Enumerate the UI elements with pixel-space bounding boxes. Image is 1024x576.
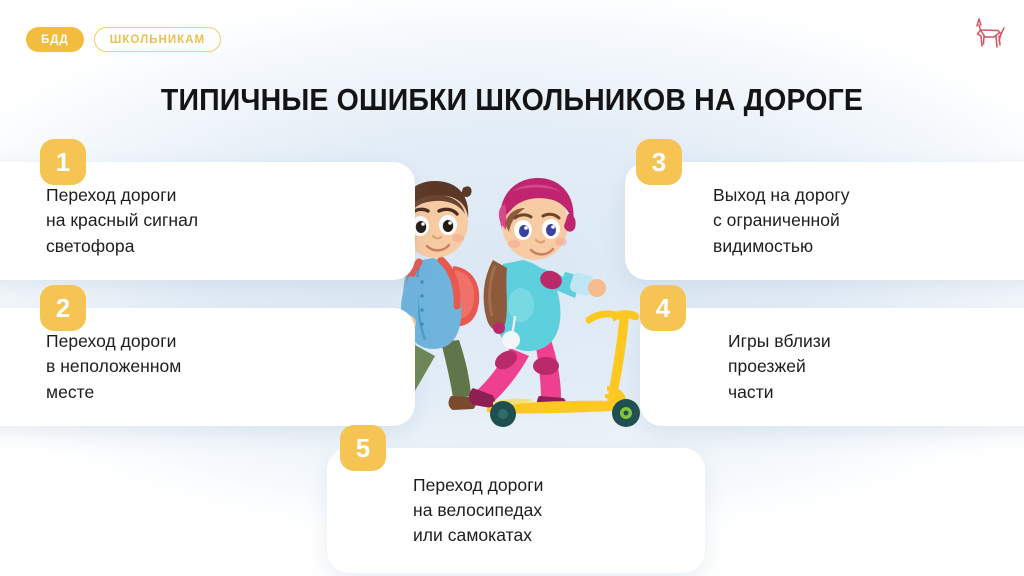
card-3[interactable]: Выход на дорогу с ограниченной видимость… bbox=[625, 162, 1024, 280]
tag-bdd[interactable]: БДД bbox=[26, 27, 84, 52]
card-3-number-badge: 3 bbox=[636, 139, 682, 185]
infographic-root: БДД ШКОЛЬНИКАМ ТИПИЧНЫЕ ОШИБКИ ШКОЛЬНИКО… bbox=[0, 0, 1024, 576]
tag-group: БДД ШКОЛЬНИКАМ bbox=[26, 27, 221, 52]
card-2-text: Переход дороги в неположенном месте bbox=[46, 329, 181, 405]
card-5[interactable]: Переход дороги на велосипедах или самока… bbox=[327, 448, 705, 573]
card-2-number-badge: 2 bbox=[40, 285, 86, 331]
card-4[interactable]: Игры вблизи проезжей части bbox=[640, 308, 1024, 426]
card-4-number-badge: 4 bbox=[640, 285, 686, 331]
page-title: ТИПИЧНЫЕ ОШИБКИ ШКОЛЬНИКОВ НА ДОРОГЕ bbox=[41, 82, 983, 118]
card-5-text: Переход дороги на велосипедах или самока… bbox=[413, 472, 543, 548]
card-3-text: Выход на дорогу с ограниченной видимость… bbox=[713, 183, 850, 259]
horse-logo-icon bbox=[968, 14, 1006, 56]
card-4-text: Игры вблизи проезжей части bbox=[728, 329, 831, 405]
card-1-text: Переход дороги на красный сигнал светофо… bbox=[46, 183, 198, 259]
card-1-number-badge: 1 bbox=[40, 139, 86, 185]
tag-schoolchildren[interactable]: ШКОЛЬНИКАМ bbox=[94, 27, 221, 52]
card-5-number-badge: 5 bbox=[340, 425, 386, 471]
